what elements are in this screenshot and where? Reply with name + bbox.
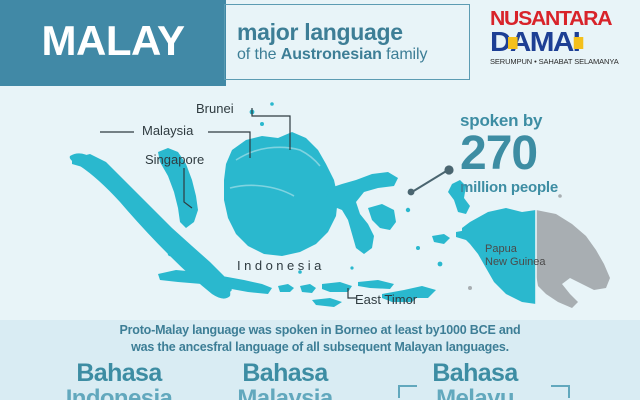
bahasa-word: Bahasa	[210, 360, 360, 386]
language-variant-label: Indonesia	[44, 386, 194, 400]
leader-dot-start	[408, 189, 415, 196]
small-island-dot	[194, 272, 198, 276]
caption-line-2: was the ancesfral language of all subseq…	[131, 339, 509, 356]
small-island-dot	[260, 122, 264, 126]
png-label-line1: Papua	[485, 243, 546, 256]
small-island-dot	[270, 102, 274, 106]
page-title: MALAY	[42, 20, 185, 66]
island-flores	[358, 280, 394, 289]
small-island-dot	[468, 286, 472, 290]
infographic-page: MALAY major language of the Austronesian…	[0, 0, 640, 400]
subtitle-emphasis: Austronesian	[281, 46, 382, 63]
png-label-line2: New Guinea	[485, 256, 546, 269]
small-island-dot	[406, 208, 410, 212]
subtitle-primary: major language	[237, 20, 469, 44]
leader-line-stat	[412, 170, 448, 192]
stat-number: 270	[460, 130, 630, 179]
bracket-corner-right-icon	[551, 385, 570, 398]
small-island-dot	[114, 174, 118, 178]
island-sulawesi-arm	[368, 204, 396, 230]
small-island-dot	[148, 226, 153, 231]
logo-accent-square-icon	[508, 37, 518, 49]
subtitle-prefix: of the	[237, 46, 281, 63]
region-papua-new-guinea	[536, 210, 610, 308]
subtitle-secondary: of the Austronesian family	[237, 45, 469, 64]
map-label-indonesia: Indonesia	[237, 258, 325, 273]
small-island-dot	[302, 164, 306, 168]
small-island-dot	[127, 197, 132, 202]
map-label-singapore: Singapore	[145, 152, 204, 167]
language-variant-label: Malaysia	[210, 386, 360, 400]
island-buru	[432, 234, 450, 244]
language-variant-label: Melayu	[400, 386, 550, 400]
map-label-east-timor: East Timor	[355, 292, 417, 307]
header-band: MALAY major language of the Austronesian…	[0, 0, 640, 88]
language-name-melayu: Bahasa Melayu	[400, 360, 550, 400]
bahasa-word: Bahasa	[44, 360, 194, 386]
statistic-block: spoken by 270 million people	[460, 112, 630, 195]
logo-damai-label: DAMAI	[490, 26, 579, 57]
logo-text-damai: DAMAI	[490, 29, 638, 56]
island-bali	[278, 284, 294, 292]
language-name-malaysia: Bahasa Malaysia	[210, 360, 360, 400]
subtitle-box: major language of the Austronesian famil…	[224, 4, 470, 80]
logo-tagline: SERUMPUN • SAHABAT SELAMANYA	[490, 58, 630, 66]
language-name-indonesia: Bahasa Indonesia	[44, 360, 194, 400]
caption-line-1: Proto-Malay language was spoken in Borne…	[119, 322, 520, 339]
logo-accent-square-icon	[574, 37, 584, 49]
stat-unit-label: million people	[460, 180, 630, 195]
map-label-papua-new-guinea: Papua New Guinea	[485, 243, 546, 268]
brand-logo: NUSANTARA DAMAI SERUMPUN • SAHABAT SELAM…	[490, 10, 630, 68]
small-island-dot	[416, 246, 420, 250]
leader-dot-end	[444, 165, 453, 174]
small-island-dot	[350, 266, 353, 269]
caption-band: Proto-Malay language was spoken in Borne…	[0, 320, 640, 358]
bracket-corner-left-icon	[398, 385, 417, 398]
map-label-malaysia: Malaysia	[142, 123, 193, 138]
footer-language-names: Bahasa Indonesia Bahasa Malaysia Bahasa …	[0, 358, 640, 400]
map-label-brunei: Brunei	[196, 101, 234, 116]
island-lombok	[300, 284, 316, 293]
island-borneo	[224, 132, 338, 256]
subtitle-suffix: family	[382, 46, 428, 63]
island-sumba	[312, 298, 342, 307]
title-block: MALAY	[0, 0, 226, 86]
small-island-dot	[438, 262, 443, 267]
small-island-dot	[168, 252, 172, 256]
bahasa-word: Bahasa	[400, 360, 550, 386]
